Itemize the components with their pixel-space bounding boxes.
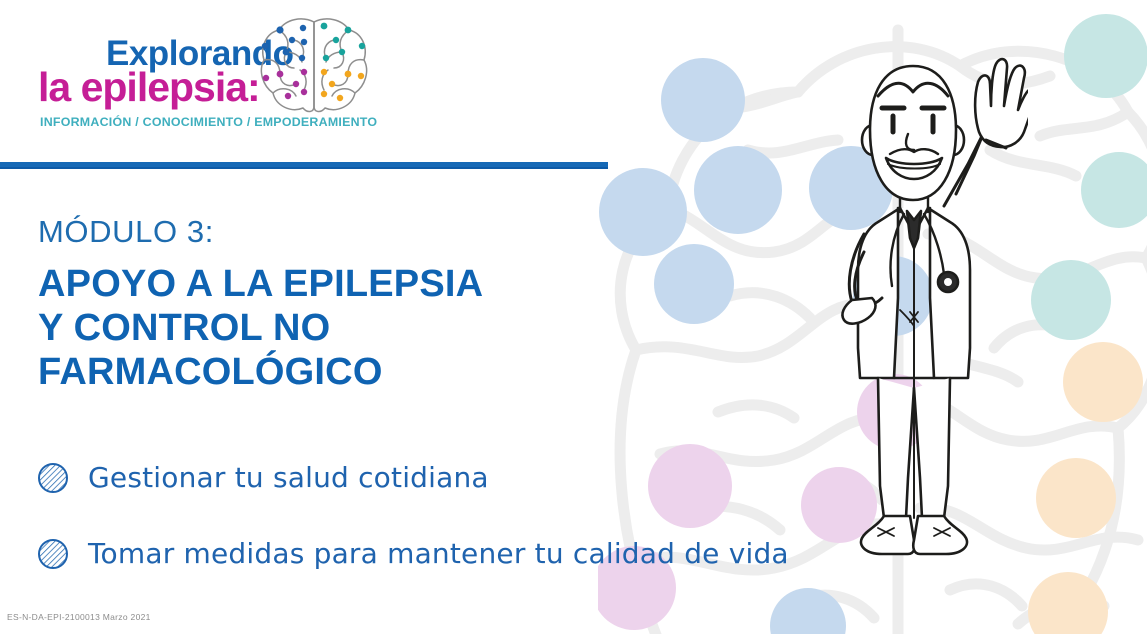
footer-reference-code: ES-N-DA-EPI-2100013 Marzo 2021	[7, 612, 151, 622]
module-kicker: MÓDULO 3:	[38, 215, 214, 249]
logo-word-la-epilepsia: la epilepsia:	[38, 67, 260, 108]
page-title-line-1: APOYO A LA EPILEPSIA	[38, 262, 598, 306]
logo-tagline: INFORMACIÓN / CONOCIMIENTO / EMPODERAMIE…	[40, 116, 377, 128]
page-title-line-3: FARMACOLÓGICO	[38, 350, 598, 394]
list-item: Gestionar tu salud cotidiana	[36, 440, 836, 516]
brand-logo: Explorando la epilepsia: INFORMACIÓN / C…	[38, 14, 378, 124]
bullet-label: Gestionar tu salud cotidiana	[88, 464, 489, 492]
list-item: Tomar medidas para mantener tu calidad d…	[36, 516, 836, 592]
page-title: APOYO A LA EPILEPSIA Y CONTROL NO FARMAC…	[38, 262, 598, 394]
waving-doctor-illustration	[838, 48, 1028, 568]
bullet-label: Tomar medidas para mantener tu calidad d…	[88, 540, 789, 568]
page-title-line-2: Y CONTROL NO	[38, 306, 598, 350]
hatched-circle-bullet-icon	[36, 537, 70, 571]
brain-network-icon	[258, 16, 370, 116]
blue-rule	[0, 162, 608, 169]
hatched-circle-bullet-icon	[36, 461, 70, 495]
slide-root: Explorando la epilepsia: INFORMACIÓN / C…	[0, 0, 1147, 634]
bullet-list: Gestionar tu salud cotidiana Tomar medid…	[36, 440, 836, 592]
